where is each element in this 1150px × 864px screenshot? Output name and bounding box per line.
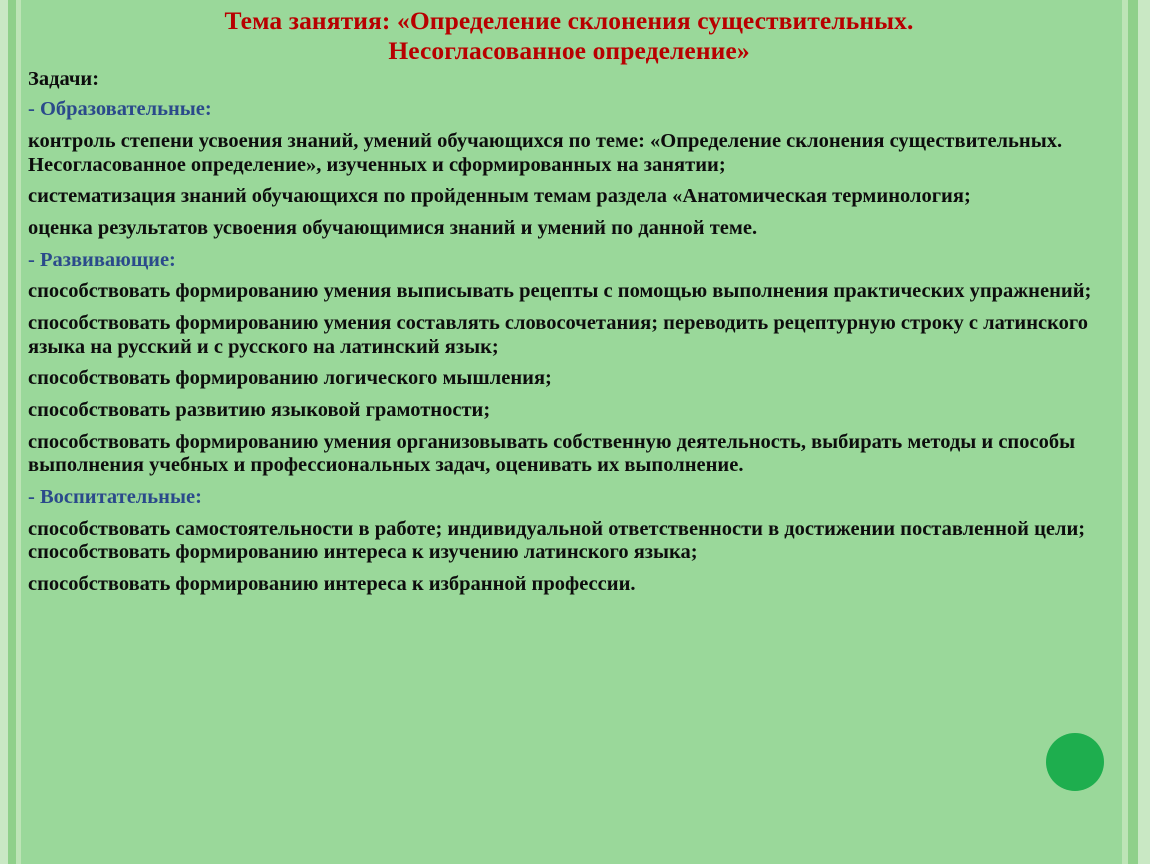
left-border-band-2 xyxy=(8,0,16,864)
slide-title: Тема занятия: «Определение склонения сущ… xyxy=(28,6,1110,66)
decorative-circle xyxy=(1046,733,1104,791)
developmental-item-1: способствовать формированию умения выпис… xyxy=(28,280,1110,304)
right-border-band-1 xyxy=(1138,0,1150,864)
upbringing-item-1: способствовать самостоятельности в работ… xyxy=(28,518,1110,565)
right-border-band-2 xyxy=(1128,0,1138,864)
developmental-item-5: способствовать формированию умения орган… xyxy=(28,431,1110,478)
tasks-label: Задачи: xyxy=(28,68,1110,92)
developmental-item-2: способствовать формированию умения соста… xyxy=(28,312,1110,359)
slide-title-line-2: Несогласованное определение» xyxy=(28,36,1110,66)
section-heading-developmental: - Развивающие: xyxy=(28,249,1110,273)
educational-item-3: оценка результатов усвоения обучающимися… xyxy=(28,217,1110,241)
slide-body: Задачи: - Образовательные: контроль степ… xyxy=(28,68,1110,597)
educational-item-2: систематизация знаний обучающихся по про… xyxy=(28,185,1110,209)
slide-content: Тема занятия: «Определение склонения сущ… xyxy=(28,6,1110,864)
slide-title-line-1: Тема занятия: «Определение склонения сущ… xyxy=(28,6,1110,36)
left-border-band-3 xyxy=(16,0,21,864)
developmental-item-3: способствовать формированию логического … xyxy=(28,367,1110,391)
section-heading-educational: - Образовательные: xyxy=(28,98,1110,122)
upbringing-item-2: способствовать формированию интереса к и… xyxy=(28,573,1110,597)
section-heading-upbringing: - Воспитательные: xyxy=(28,486,1110,510)
left-border-band-1 xyxy=(0,0,8,864)
slide: Тема занятия: «Определение склонения сущ… xyxy=(0,0,1150,864)
right-border-band-3 xyxy=(1122,0,1128,864)
developmental-item-4: способствовать развитию языковой грамотн… xyxy=(28,399,1110,423)
educational-item-1: контроль степени усвоения знаний, умений… xyxy=(28,130,1110,177)
